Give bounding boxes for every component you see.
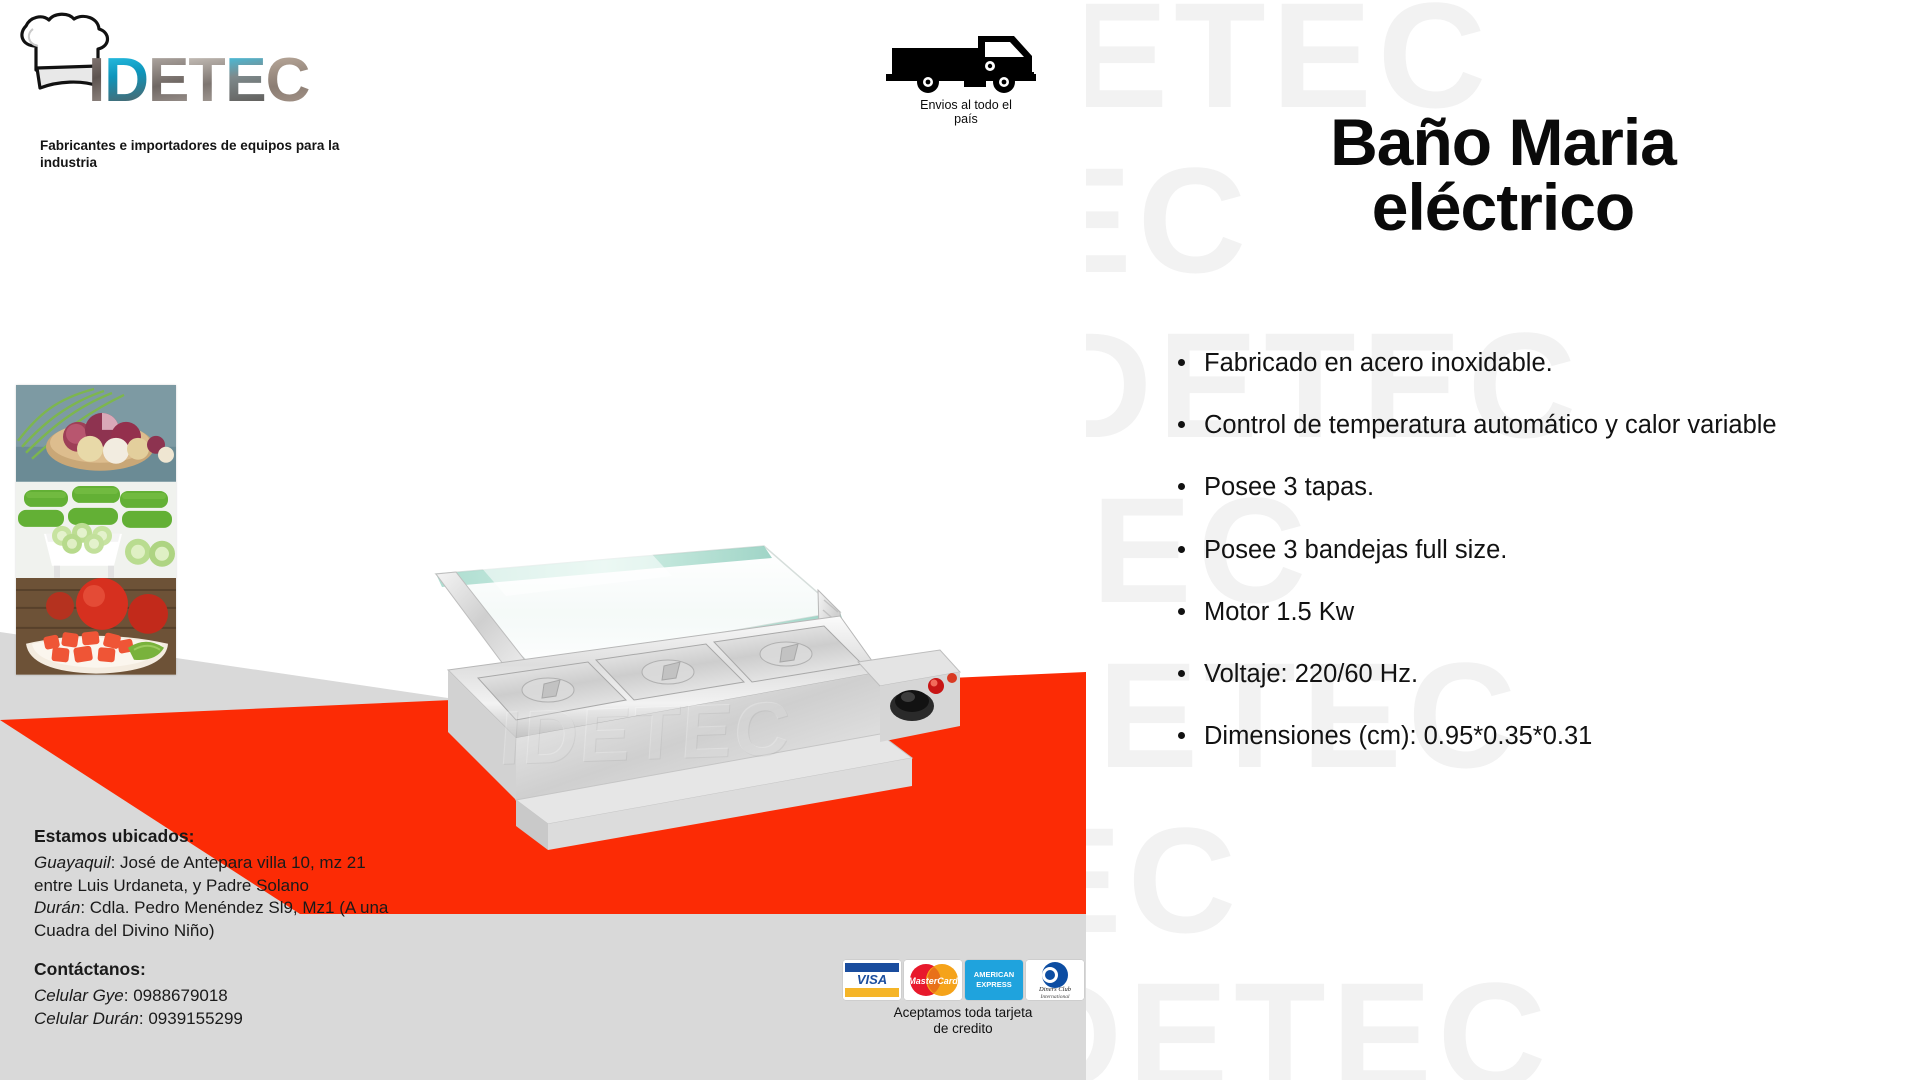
feature-item: Posee 3 bandejas full size. [1172, 532, 1892, 568]
address-duran-line1: : Cdla. Pedro Menéndez Sl9, Mz1 (A una [80, 898, 388, 917]
page-title: Baño Maria eléctrico [1086, 110, 1920, 239]
onions-photo [16, 385, 176, 482]
address-guayaquil-line1: : José de Antepara villa 10, mz 21 [111, 853, 366, 872]
svg-text:MasterCard: MasterCard [908, 976, 958, 986]
logo-letter-e1: E [148, 52, 188, 110]
visa-card-logo: VISA [843, 960, 901, 1000]
diners-club-card-logo: Diners Club International [1026, 960, 1084, 1000]
mastercard-card-logo: MasterCard [904, 960, 962, 1000]
logo-letter-t: T [188, 52, 225, 110]
address-guayaquil-label: Guayaquil [34, 853, 111, 872]
address-guayaquil: Guayaquil: José de Antepara villa 10, mz… [34, 852, 594, 897]
payment-methods: VISA MasterCard AMERICAN EXPRESS [838, 960, 1086, 1037]
svg-text:Diners Club: Diners Club [1038, 986, 1072, 993]
shipping-line-1: Envios al todo el [920, 98, 1012, 112]
svg-text:EXPRESS: EXPRESS [976, 980, 1011, 989]
payment-note-line-2: de credito [933, 1021, 992, 1036]
logo-letter-d: D [104, 52, 148, 110]
shipping-text: Envios al todo el país [886, 98, 1046, 127]
feature-item: Dimensiones (cm): 0.95*0.35*0.31 [1172, 718, 1892, 754]
contact-heading: Contáctanos: [34, 959, 594, 980]
watermark-row: IDETEC [1086, 805, 1242, 955]
card-logo-row: VISA MasterCard AMERICAN EXPRESS [838, 960, 1086, 1000]
contact-phone-duran-label: Celular Durán [34, 1009, 139, 1028]
product-title-line-1: Baño Maria [1330, 105, 1676, 179]
right-panel: IDETEC IDETEC IDETEC IDETEC IDETEC IDETE… [1086, 0, 1920, 1080]
contact-phone-gye: Celular Gye: 0988679018 [34, 985, 594, 1008]
logo-letter-e2: E [225, 52, 265, 110]
svg-text:VISA: VISA [856, 972, 886, 987]
shipping-line-2: país [954, 112, 978, 126]
address-duran: Durán: Cdla. Pedro Menéndez Sl9, Mz1 (A … [34, 897, 594, 942]
feature-item: Motor 1.5 Kw [1172, 594, 1892, 630]
american-express-card-logo: AMERICAN EXPRESS [965, 960, 1023, 1000]
feature-item: Voltaje: 220/60 Hz. [1172, 656, 1892, 692]
feature-item: Control de temperatura automático y calo… [1172, 407, 1892, 443]
address-guayaquil-line2: entre Luis Urdaneta, y Padre Solano [34, 876, 309, 895]
brand-wordmark: I D E T E C [88, 48, 309, 110]
feature-item: Posee 3 tapas. [1172, 469, 1892, 505]
cucumbers-photo [16, 482, 176, 579]
svg-text:International: International [1039, 994, 1069, 1000]
address-heading: Estamos ubicados: [34, 826, 594, 847]
food-photo-strip [16, 385, 176, 675]
contact-phone-gye-value[interactable]: : 0988679018 [124, 986, 228, 1005]
product-title-line-2: eléctrico [1086, 175, 1920, 240]
payment-note: Aceptamos toda tarjeta de credito [838, 1005, 1086, 1037]
tomatoes-photo [16, 578, 176, 675]
delivery-truck-icon [886, 28, 1046, 94]
address-duran-line2: Cuadra del Divino Niño) [34, 921, 214, 940]
payment-note-line-1: Aceptamos toda tarjeta [894, 1005, 1033, 1020]
contact-info-block: Estamos ubicados: Guayaquil: José de Ant… [34, 826, 594, 1031]
advertisement-canvas: I D E T E C Fabricantes e importadores d… [0, 0, 1920, 1080]
contact-phone-gye-label: Celular Gye [34, 986, 124, 1005]
feature-item: Fabricado en acero inoxidable. [1172, 345, 1892, 381]
contact-phone-duran: Celular Durán: 0939155299 [34, 1008, 594, 1031]
left-panel: I D E T E C Fabricantes e importadores d… [0, 0, 1086, 1080]
logo-letter-c: C [266, 52, 310, 110]
address-duran-label: Durán [34, 898, 80, 917]
svg-text:AMERICAN: AMERICAN [973, 970, 1013, 979]
shipping-badge: Envios al todo el país [886, 28, 1046, 127]
contact-phone-duran-value[interactable]: : 0939155299 [139, 1009, 243, 1028]
watermark-row: IDETEC [1086, 960, 1552, 1080]
logo-letter-i: I [88, 52, 104, 110]
product-feature-list: Fabricado en acero inoxidable.Control de… [1172, 345, 1892, 780]
brand-tagline: Fabricantes e importadores de equipos pa… [40, 138, 360, 172]
brand-logo: I D E T E C Fabricantes e importadores d… [16, 10, 366, 130]
